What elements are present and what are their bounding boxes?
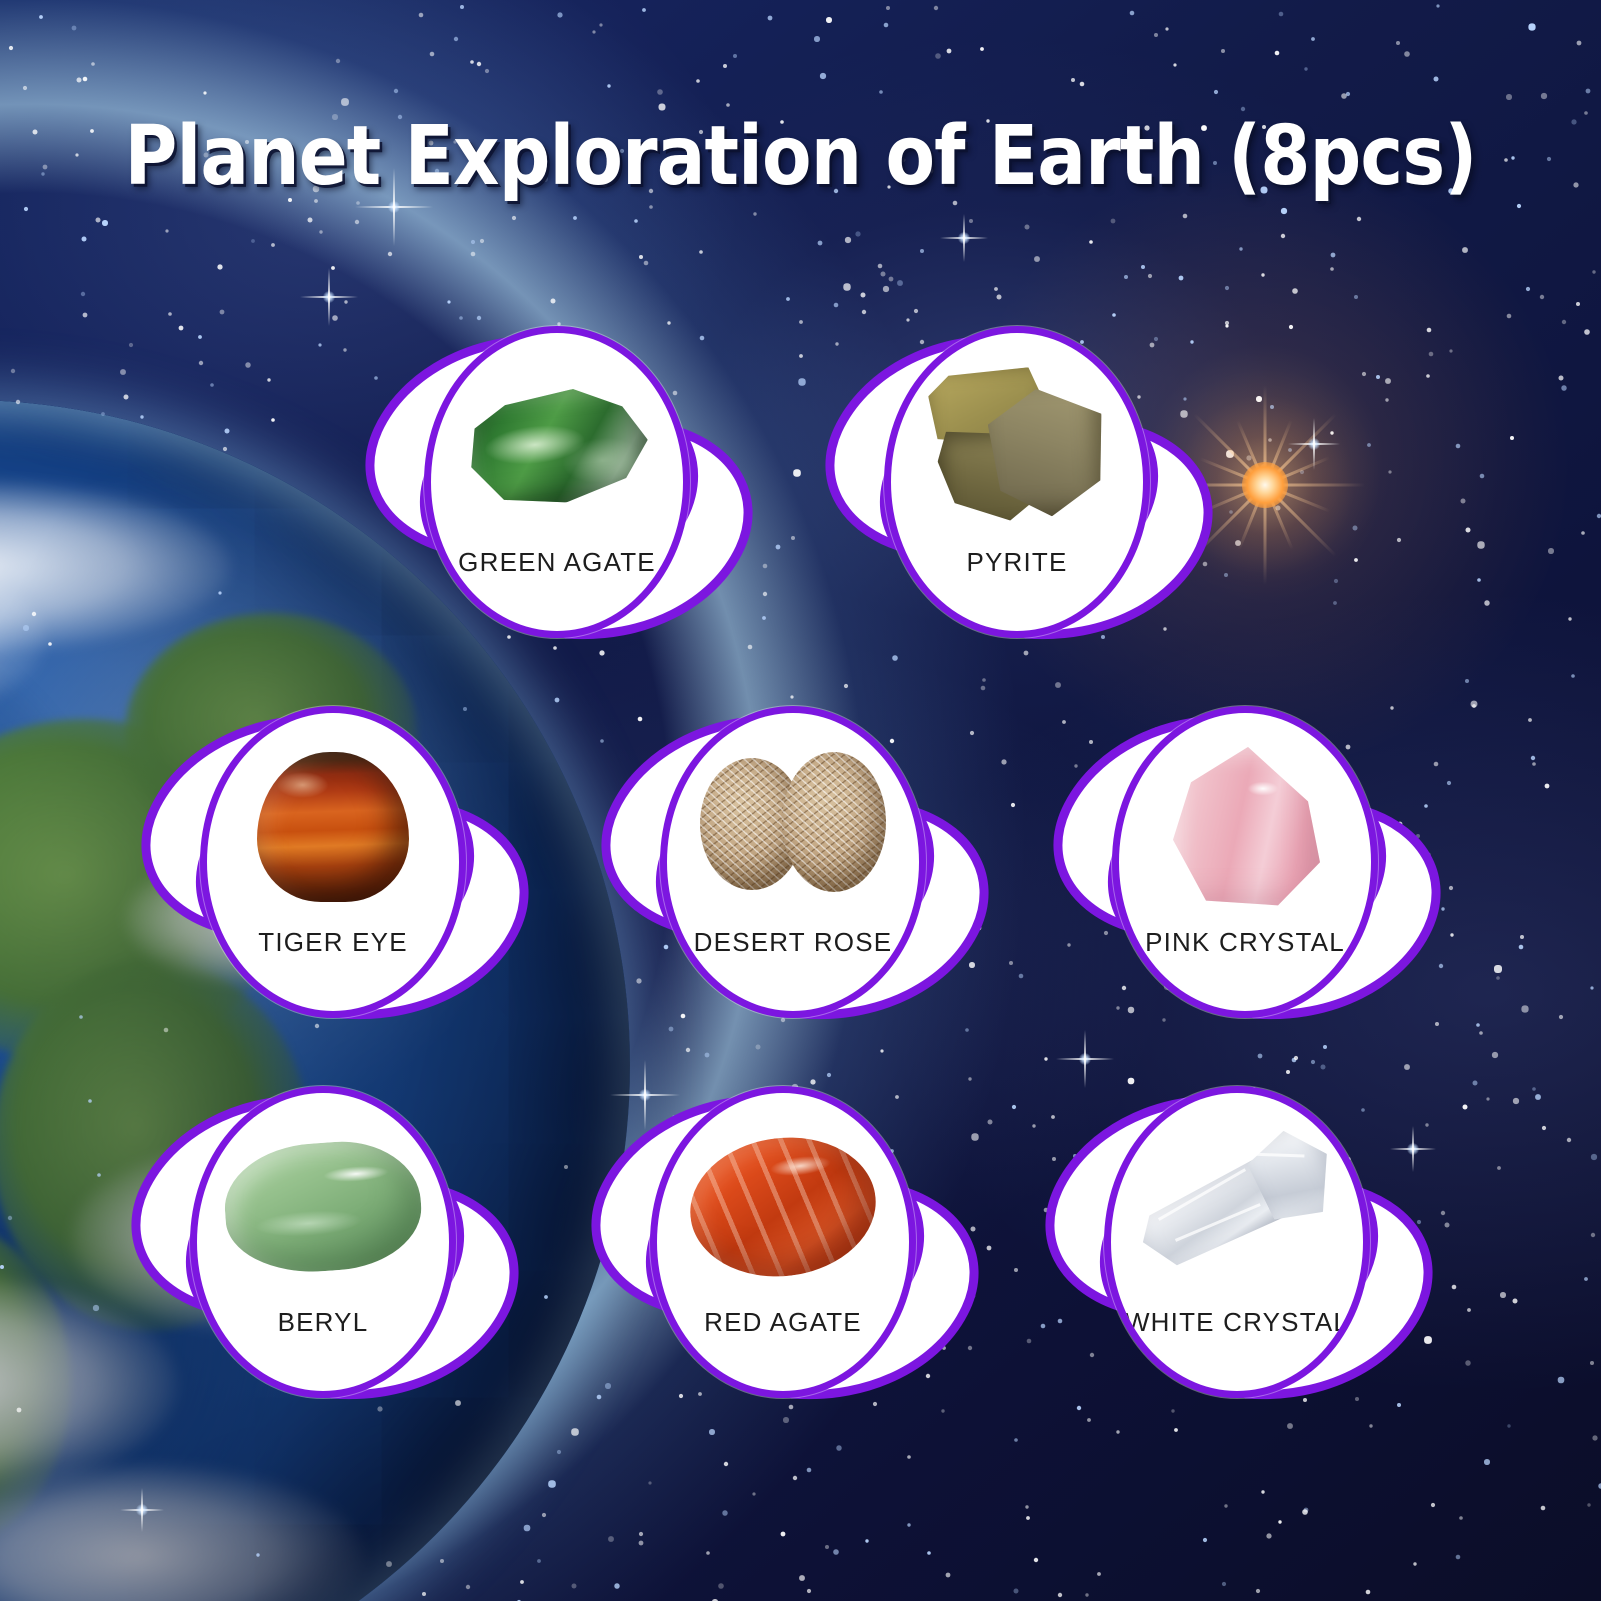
green-agate-specimen-icon bbox=[461, 382, 654, 512]
specimen-card-red-agate[interactable]: RED AGATE bbox=[578, 1078, 988, 1418]
beryl-specimen-icon bbox=[221, 1136, 425, 1277]
specimen-image bbox=[891, 333, 1143, 547]
specimen-card-tiger-eye[interactable]: TIGER EYE bbox=[128, 698, 538, 1038]
pyrite-specimen-icon bbox=[927, 364, 1107, 531]
pink-crystal-specimen-icon bbox=[1170, 747, 1320, 907]
specimen-card-white-crystal[interactable]: WHITE CRYSTAL bbox=[1032, 1078, 1442, 1418]
specimen-body: PYRITE bbox=[884, 326, 1150, 638]
specimen-card-green-agate[interactable]: GREEN AGATE bbox=[352, 318, 762, 658]
specimen-image bbox=[667, 713, 919, 927]
specimen-image bbox=[1111, 1093, 1363, 1307]
specimen-body: DESERT ROSE bbox=[660, 706, 926, 1018]
specimen-card-beryl[interactable]: BERYL bbox=[118, 1078, 528, 1418]
specimen-card-pink-crystal[interactable]: PINK CRYSTAL bbox=[1040, 698, 1450, 1038]
tiger-eye-specimen-icon bbox=[257, 752, 409, 902]
specimen-grid: GREEN AGATE PYRITE bbox=[0, 0, 1601, 1601]
specimen-image bbox=[431, 333, 683, 547]
specimen-label: GREEN AGATE bbox=[458, 549, 656, 575]
specimen-card-pyrite[interactable]: PYRITE bbox=[812, 318, 1222, 658]
specimen-label: PYRITE bbox=[966, 549, 1067, 575]
desert-rose-specimen-icon bbox=[700, 752, 886, 902]
specimen-label: PINK CRYSTAL bbox=[1145, 929, 1345, 955]
specimen-body: RED AGATE bbox=[650, 1086, 916, 1398]
specimen-body: TIGER EYE bbox=[200, 706, 466, 1018]
specimen-image bbox=[657, 1093, 909, 1307]
specimen-image bbox=[197, 1093, 449, 1307]
specimen-label: TIGER EYE bbox=[258, 929, 408, 955]
white-crystal-specimen-icon bbox=[1116, 1100, 1357, 1314]
specimen-body: BERYL bbox=[190, 1086, 456, 1398]
red-agate-specimen-icon bbox=[682, 1127, 883, 1287]
specimen-body: WHITE CRYSTAL bbox=[1104, 1086, 1370, 1398]
poster-canvas: Planet Exploration of Earth (8pcs) GREEN… bbox=[0, 0, 1601, 1601]
specimen-label: DESERT ROSE bbox=[694, 929, 893, 955]
specimen-image bbox=[1119, 713, 1371, 927]
specimen-body: PINK CRYSTAL bbox=[1112, 706, 1378, 1018]
specimen-image bbox=[207, 713, 459, 927]
specimen-label: BERYL bbox=[278, 1309, 369, 1335]
specimen-body: GREEN AGATE bbox=[424, 326, 690, 638]
specimen-label: WHITE CRYSTAL bbox=[1125, 1309, 1349, 1335]
specimen-label: RED AGATE bbox=[704, 1309, 862, 1335]
specimen-card-desert-rose[interactable]: DESERT ROSE bbox=[588, 698, 998, 1038]
